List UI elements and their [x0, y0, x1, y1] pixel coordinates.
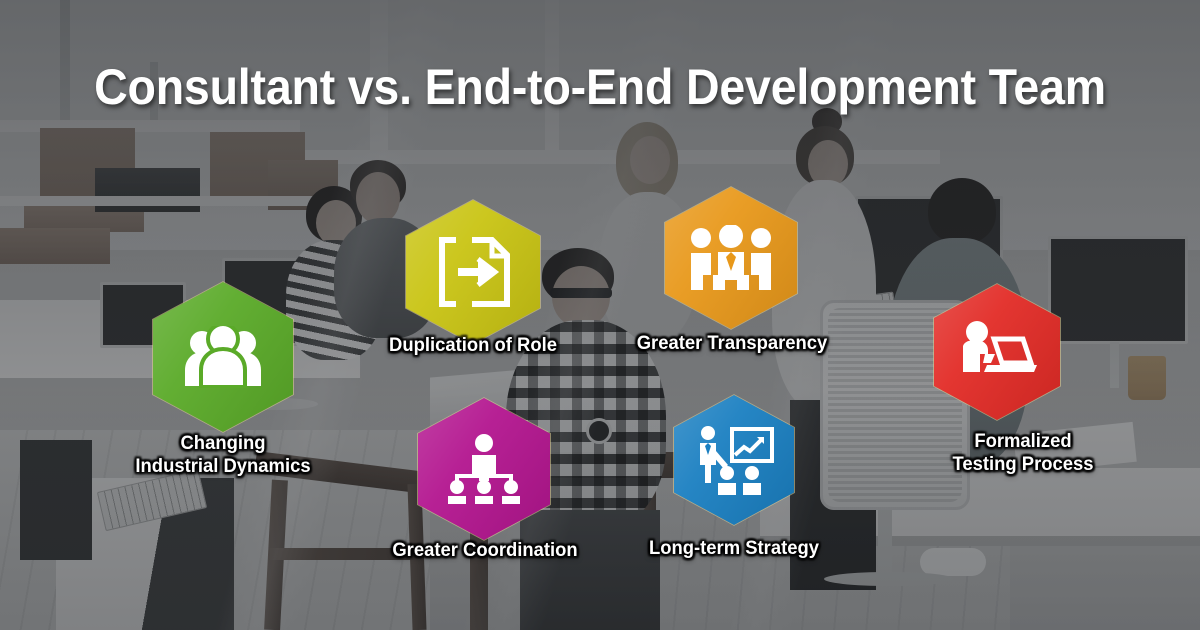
node-label: Changing Industrial Dynamics — [97, 432, 349, 478]
node-label: Long-term Strategy — [616, 537, 853, 560]
page-title: Consultant vs. End-to-End Development Te… — [42, 58, 1158, 116]
node-label: Formalized Testing Process — [910, 430, 1135, 476]
node-label: Greater Transparency — [615, 332, 850, 355]
infographic-banner: Consultant vs. End-to-End Development Te… — [0, 0, 1200, 630]
node-label: Greater Coordination — [368, 539, 603, 562]
node-label: Duplication of Role — [357, 334, 590, 357]
